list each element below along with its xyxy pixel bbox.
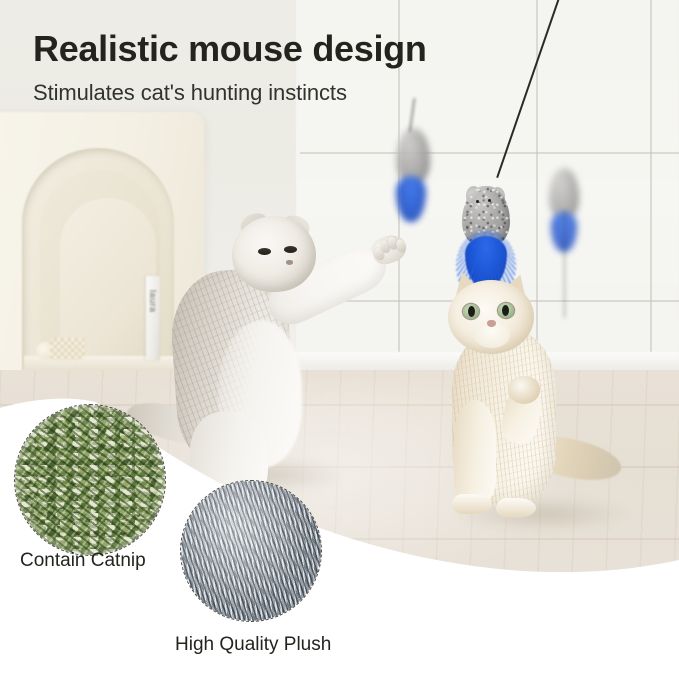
gray-cat-eye-right <box>284 246 297 253</box>
cream-cat-eye-left <box>463 304 479 319</box>
plush-callout-circle <box>180 480 322 622</box>
cream-cat-nose <box>487 320 496 327</box>
cream-cat-front-leg <box>454 400 496 506</box>
page-title: Realistic mouse design <box>33 28 427 70</box>
cream-cat-eye-right <box>498 303 514 318</box>
cream-cat-pupil-left <box>468 306 475 317</box>
book-spine-label: laura <box>148 290 158 336</box>
cream-cat-raised-paw <box>508 376 540 404</box>
mouse-eye-right <box>488 199 491 202</box>
cream-cat-foot-paw-right <box>496 498 536 518</box>
gray-scottish-fold-cat <box>160 200 460 490</box>
gray-cat-nose <box>286 260 293 265</box>
catnip-callout-label: Contain Catnip <box>20 550 146 572</box>
product-feature-image: laura <box>0 0 679 679</box>
catnip-edge-fade <box>15 405 165 555</box>
checkered-cushion-prop <box>50 338 86 360</box>
gray-cat-eye-left <box>258 248 271 255</box>
mouse-eye-left <box>476 200 479 203</box>
cream-longhair-cat <box>430 272 655 534</box>
plush-callout-label: High Quality Plush <box>175 634 331 656</box>
cream-cat-pupil-right <box>502 305 509 316</box>
page-subtitle: Stimulates cat's hunting instincts <box>33 80 347 106</box>
paw-toe <box>395 238 408 253</box>
cabinet-arch-recess <box>60 198 156 358</box>
cream-cat-foot-paw-left <box>452 494 492 514</box>
gray-cat-head <box>232 216 316 292</box>
catnip-callout-circle <box>14 404 166 556</box>
plush-highlight <box>181 481 321 621</box>
wall-panel-line <box>300 152 679 154</box>
